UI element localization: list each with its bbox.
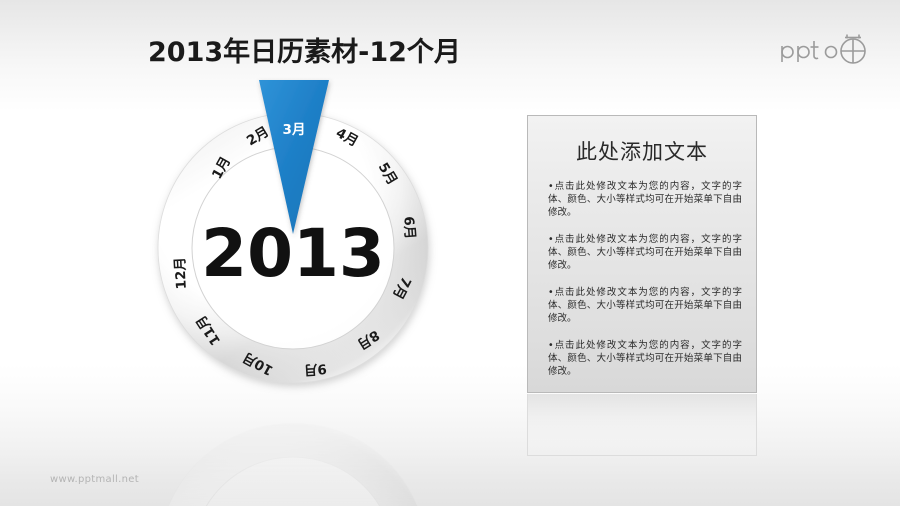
panel-reflection [527, 394, 757, 456]
month-label-9[interactable]: 9月 [303, 360, 327, 378]
slide-canvas: 2013年日历素材-12个月 [0, 0, 900, 506]
footer-url: www.pptmall.net [50, 474, 139, 485]
panel-heading: 此处添加文本 [542, 136, 742, 166]
donut-center-year: 2013 [201, 215, 385, 292]
panel-paragraph: •点击此处修改文本为您的内容，文字的字体、颜色、大小等样式均可在开始菜单下自由修… [542, 233, 742, 272]
pptmall-logo-icon [772, 26, 882, 70]
panel-paragraph: •点击此处修改文本为您的内容，文字的字体、颜色、大小等样式均可在开始菜单下自由修… [542, 286, 742, 325]
calendar-donut-chart[interactable]: 1月 2月 3月 4月 5月 6月 7月 8月 9月 10月 11月 12月 2… [155, 88, 445, 408]
text-panel[interactable]: 此处添加文本 •点击此处修改文本为您的内容，文字的字体、颜色、大小等样式均可在开… [527, 115, 757, 393]
donut-reflection [155, 398, 445, 506]
page-title: 2013年日历素材-12个月 [148, 30, 461, 69]
pptmall-logo [772, 26, 882, 70]
month-label-12[interactable]: 12月 [172, 257, 190, 290]
month-label-6[interactable]: 6月 [400, 216, 418, 240]
panel-paragraph: •点击此处修改文本为您的内容，文字的字体、颜色、大小等样式均可在开始菜单下自由修… [542, 339, 742, 378]
month-label-3[interactable]: 3月 [283, 122, 306, 138]
panel-paragraph: •点击此处修改文本为您的内容，文字的字体、颜色、大小等样式均可在开始菜单下自由修… [542, 180, 742, 219]
